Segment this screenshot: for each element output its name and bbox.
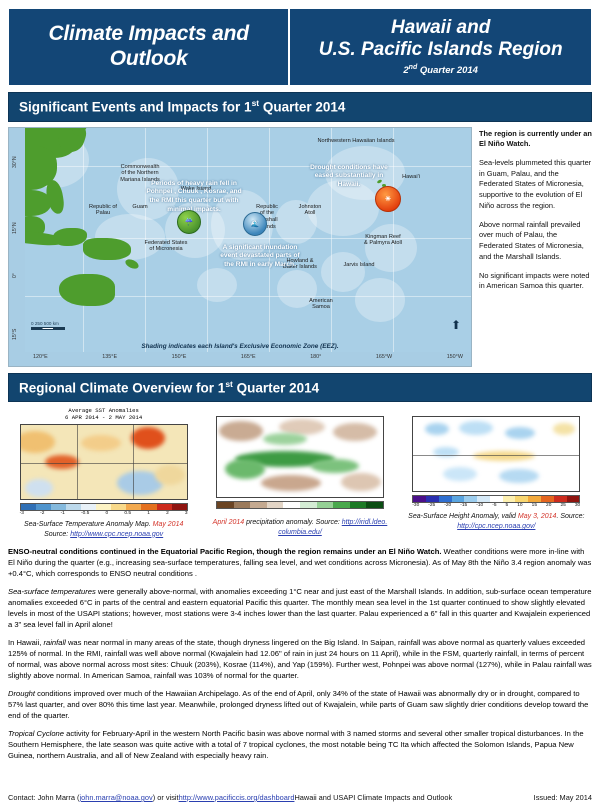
map-label-johnston: Johnston Atoll: [291, 204, 329, 218]
issued-date: Issued: May 2014: [534, 793, 592, 802]
sst-blob: [81, 435, 121, 451]
dashboard-url-link[interactable]: http://www.pacificcis.org/dashboard: [179, 793, 295, 802]
map-label-samoa: American Samoa: [299, 298, 343, 312]
precip-blob: [225, 459, 265, 479]
precip-caption: April 2014 precipitation anomaly. Source…: [212, 518, 388, 538]
ssh-blob: [553, 423, 575, 435]
land-new-guinea: [83, 238, 131, 260]
header-title-right: Hawaii and U.S. Pacific Islands Region 2…: [288, 9, 591, 85]
map-label-fsm: Federated States of Micronesia: [135, 240, 197, 254]
eez-note: Shading indicates each Island's Exclusiv…: [9, 343, 471, 350]
banner-text: Significant Events and Impacts for 1: [19, 100, 252, 115]
ssh-blob: [505, 427, 535, 439]
header-quarter: 2nd Quarter 2014: [403, 64, 478, 77]
paragraph-sst: Sea-surface temperatures were generally …: [8, 586, 592, 630]
sst-colorbar: [20, 503, 188, 511]
sst-blob: [155, 465, 185, 485]
map-label-kingman: Kingman Reef & Palmyra Atoll: [355, 234, 411, 248]
map-callout-inundation: A significant inundation event devastate…: [201, 244, 319, 270]
lon-tick: 165°W: [376, 354, 392, 360]
lon-tick: 165°E: [241, 354, 256, 360]
ssh-blob: [443, 467, 477, 481]
lon-tick: 150°E: [172, 354, 187, 360]
precip-blob: [341, 473, 381, 491]
lon-tick: 120°E: [33, 354, 48, 360]
north-arrow-icon: ⬆: [451, 318, 461, 332]
footer-contact-label: Contact: John Marra (: [8, 793, 79, 802]
sst-plot-title: Average SST Anomalies 6 APR 2014 - 2 MAY…: [65, 407, 142, 422]
sst-caption: Sea-Surface Temperature Anomaly Map. May…: [16, 520, 192, 540]
sst-source-link[interactable]: http://www.cpc.ncep.noaa.gov: [70, 531, 163, 538]
ssh-anomaly-plot: [412, 416, 580, 492]
lat-tick: 0°: [12, 273, 18, 278]
land-australia: [59, 274, 115, 306]
drought-icon: ☀: [375, 186, 401, 212]
map-sidebar-text: The region is currently under an El Niño…: [479, 127, 592, 367]
narrative-body: ENSO-neutral conditions continued in the…: [8, 546, 592, 761]
sst-blob: [25, 479, 53, 497]
flood-icon: 🌊: [243, 212, 267, 236]
paragraph-enso: ENSO-neutral conditions continued in the…: [8, 546, 592, 579]
section-banner-overview: Regional Climate Overview for 1st Quarte…: [8, 373, 592, 403]
map-gridline: [331, 128, 332, 352]
events-map-section: Northwestern Hawaiian Islands Commonweal…: [8, 127, 592, 367]
map-container: Northwestern Hawaiian Islands Commonweal…: [8, 127, 472, 367]
document-header: Climate Impacts and Outlook Hawaii and U…: [8, 8, 592, 86]
sst-blob: [45, 455, 79, 469]
outlook-page: Climate Impacts and Outlook Hawaii and U…: [0, 8, 600, 808]
map-callout-rain: Periods of heavy rain fell in Pohnpei , …: [129, 180, 259, 215]
header-region-line1: Hawaii and: [391, 17, 490, 39]
sidebar-paragraph-watch: The region is currently under an El Niño…: [479, 129, 592, 150]
precip-blob: [311, 459, 359, 473]
header-title-left: Climate Impacts and Outlook: [9, 9, 288, 85]
map-label-nwhi: Northwestern Hawaiian Islands: [301, 138, 411, 145]
sst-colorbar-ticks: -3 -2 -1 -0.5 0 0.5 1 2 3: [20, 511, 188, 516]
contact-email-link[interactable]: john.marra@noaa.gov: [79, 793, 152, 802]
precip-blob: [333, 423, 377, 441]
precip-blob: [261, 475, 321, 491]
lon-tick: 135°E: [102, 354, 117, 360]
sidebar-paragraph-samoa: No significant impacts were noted in Ame…: [479, 271, 592, 292]
ssh-blob: [473, 451, 535, 461]
map-gridline: [269, 128, 270, 352]
pacific-map: Northwestern Hawaiian Islands Commonweal…: [8, 127, 472, 367]
ssh-colorbar-ticks: -30 -25 -20 -15 -10 -5 5 10 15 20 25 30: [412, 503, 580, 508]
panel-ssh: -30 -25 -20 -15 -10 -5 5 10 15 20 25 30 …: [401, 407, 592, 540]
panel-precip: April 2014 precipitation anomaly. Source…: [204, 407, 395, 540]
map-longitude-axis: 120°E 135°E 150°E 165°E 180° 165°W 150°W: [25, 353, 471, 366]
rain-icon: ☔: [177, 210, 201, 234]
section-banner-events: Significant Events and Impacts for 1st Q…: [8, 92, 592, 122]
panel-sst: Average SST Anomalies 6 APR 2014 - 2 MAY…: [8, 407, 199, 540]
sst-blob: [20, 431, 55, 453]
header-region-line2: U.S. Pacific Islands Region: [319, 39, 563, 61]
scalebar-graphic: [31, 327, 65, 330]
banner-text: Regional Climate Overview for 1: [19, 380, 225, 395]
map-gridline: [25, 166, 471, 167]
paragraph-cyclone: Tropical Cyclone activity for February-A…: [8, 728, 592, 761]
sidebar-paragraph-sealevel: Sea-levels plummeted this quarter in Gua…: [479, 158, 592, 212]
ssh-blob: [499, 469, 539, 483]
document-footer: Contact: John Marra (john.marra@noaa.gov…: [8, 793, 592, 802]
map-label-palau: Republic of Palau: [79, 204, 127, 218]
sst-anomaly-plot: [20, 424, 188, 500]
ssh-caption: Sea-Surface Height Anomaly, valid May 3,…: [406, 512, 586, 532]
sidebar-paragraph-rainfall: Above normal rainfall prevailed over muc…: [479, 220, 592, 263]
lat-tick: 15°S: [12, 328, 18, 339]
lat-tick: 15°N: [12, 222, 18, 234]
eez-zone: [321, 252, 365, 292]
precip-blob: [219, 421, 263, 441]
sst-blob: [131, 427, 165, 449]
paragraph-drought: Drought conditions improved over much of…: [8, 688, 592, 721]
precip-blob: [263, 433, 307, 445]
map-label-jarvis: Jarvis Island: [337, 262, 381, 269]
map-scalebar: 0 250 500 km: [31, 321, 65, 330]
map-gridline: [207, 128, 208, 352]
paragraph-rainfall: In Hawaii, rainfall was near normal in m…: [8, 637, 592, 681]
ssh-blob: [425, 423, 449, 435]
map-canvas: Northwestern Hawaiian Islands Commonweal…: [25, 128, 471, 352]
eez-zone: [355, 278, 405, 322]
map-latitude-axis: 30°N 15°N 0° 15°S: [10, 128, 25, 352]
lon-tick: 180°: [310, 354, 321, 360]
lat-tick: 30°N: [12, 156, 18, 168]
climate-panels: Average SST Anomalies 6 APR 2014 - 2 MAY…: [8, 407, 592, 540]
ssh-source-link[interactable]: http://cpc.ncep.noaa.gov/: [457, 523, 535, 530]
precip-anomaly-plot: [216, 416, 384, 498]
precip-colorbar: [216, 501, 384, 509]
ssh-blob: [459, 421, 493, 435]
lon-tick: 150°W: [447, 354, 463, 360]
land-sulawesi: [53, 228, 87, 246]
